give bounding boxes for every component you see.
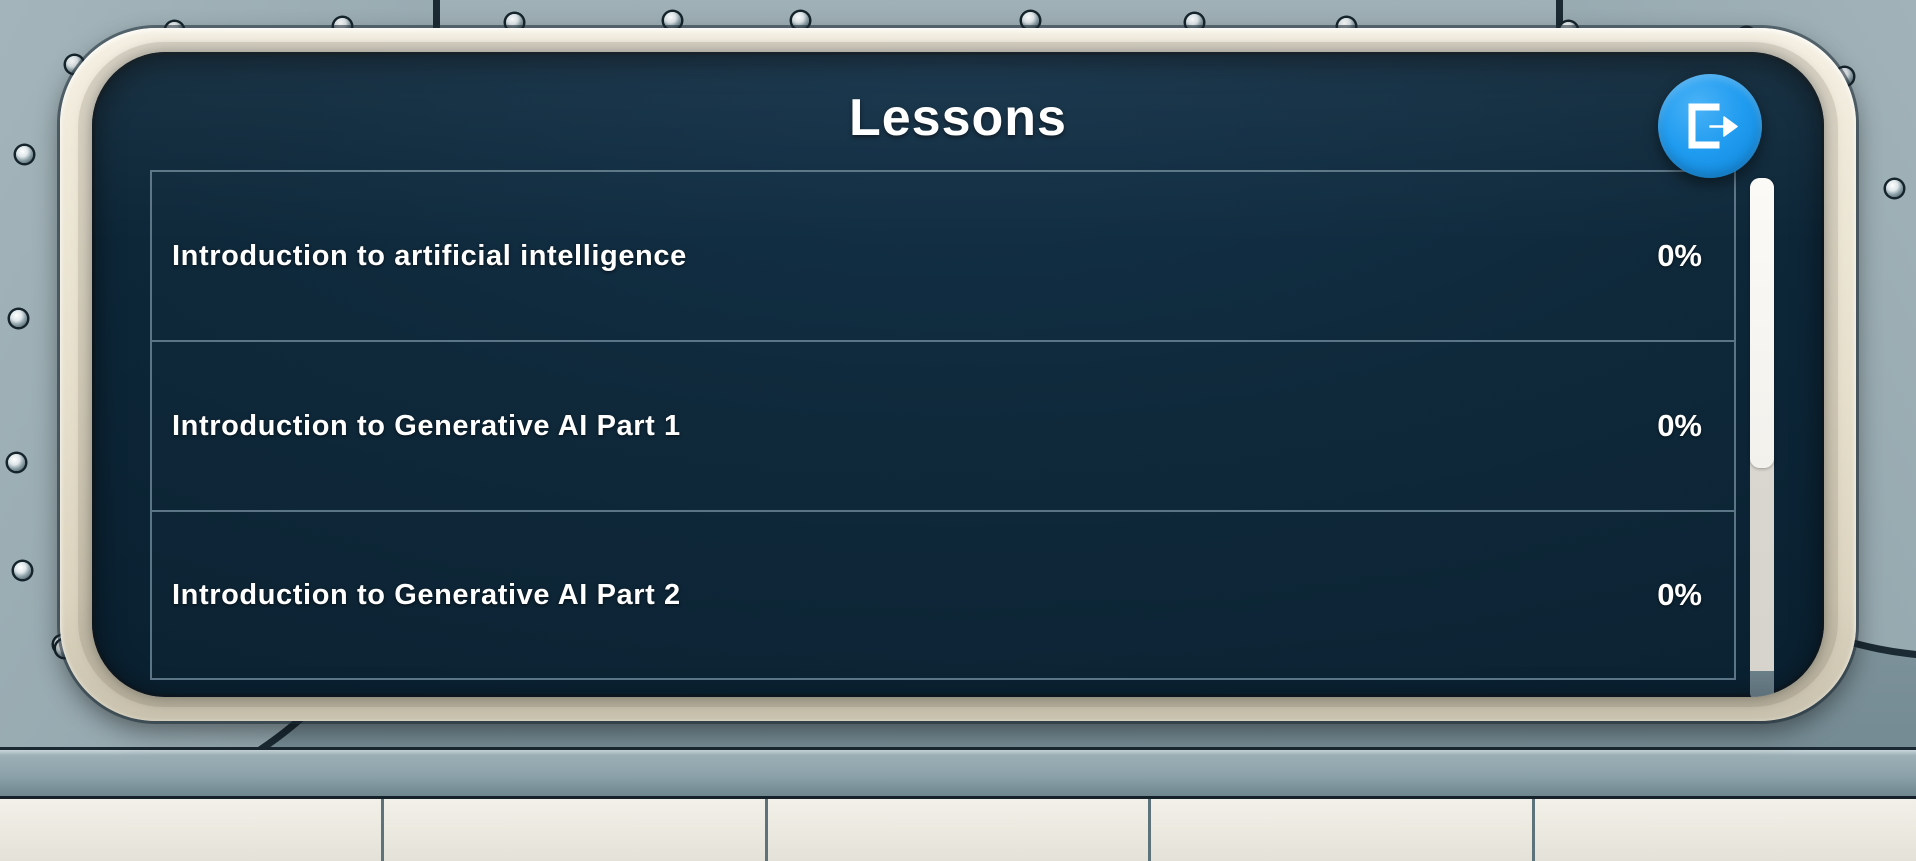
console-panels <box>0 799 1916 861</box>
lesson-row[interactable]: Introduction to Generative AI Part 2 0% <box>150 510 1736 680</box>
scrollbar-vertical[interactable] <box>1746 178 1776 697</box>
console-panel <box>768 799 1152 861</box>
lessons-screen: Lessons Introduction to artificial intel… <box>92 52 1824 697</box>
lesson-row[interactable]: Introduction to Generative AI Part 1 0% <box>150 340 1736 510</box>
rivet <box>1022 12 1039 29</box>
console-panel <box>0 799 384 861</box>
lessons-list: Introduction to artificial intelligence … <box>150 170 1736 697</box>
page-title: Lessons <box>92 88 1824 148</box>
console-panel <box>1151 799 1535 861</box>
rivet <box>14 562 31 579</box>
lesson-title: Introduction to artificial intelligence <box>172 240 1657 273</box>
scrollbar-thumb[interactable] <box>1750 178 1774 468</box>
logout-button[interactable] <box>1658 74 1762 178</box>
console-panel <box>384 799 768 861</box>
lesson-title: Introduction to Generative AI Part 2 <box>172 579 1657 612</box>
rivet <box>664 12 681 29</box>
lesson-progress: 0% <box>1657 577 1712 613</box>
rivet <box>10 310 27 327</box>
scrollbar-end-cap[interactable] <box>1750 671 1774 697</box>
lessons-list-container: Introduction to artificial intelligence … <box>150 170 1776 697</box>
console-panel <box>1535 799 1916 861</box>
lesson-progress: 0% <box>1657 408 1712 444</box>
lesson-title: Introduction to Generative AI Part 1 <box>172 410 1657 443</box>
logout-icon <box>1680 96 1740 156</box>
rivet <box>1886 180 1903 197</box>
rivet <box>792 12 809 29</box>
rivet <box>16 146 33 163</box>
lesson-row[interactable]: Introduction to artificial intelligence … <box>150 170 1736 340</box>
console-strip <box>0 747 1916 799</box>
lesson-progress: 0% <box>1657 238 1712 274</box>
rivet <box>8 454 25 471</box>
